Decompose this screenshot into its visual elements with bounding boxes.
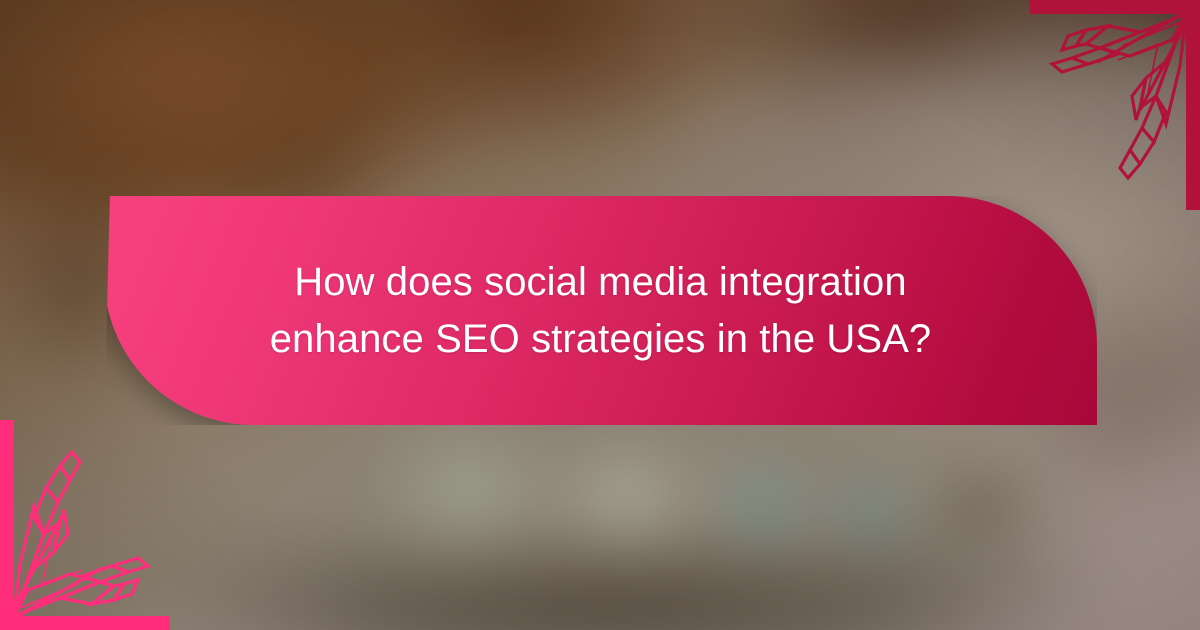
headline-banner: How does social media integration enhanc… <box>104 196 1097 425</box>
headline-text: How does social media integration enhanc… <box>144 254 1058 368</box>
social-card: How does social media integration enhanc… <box>0 0 1200 630</box>
